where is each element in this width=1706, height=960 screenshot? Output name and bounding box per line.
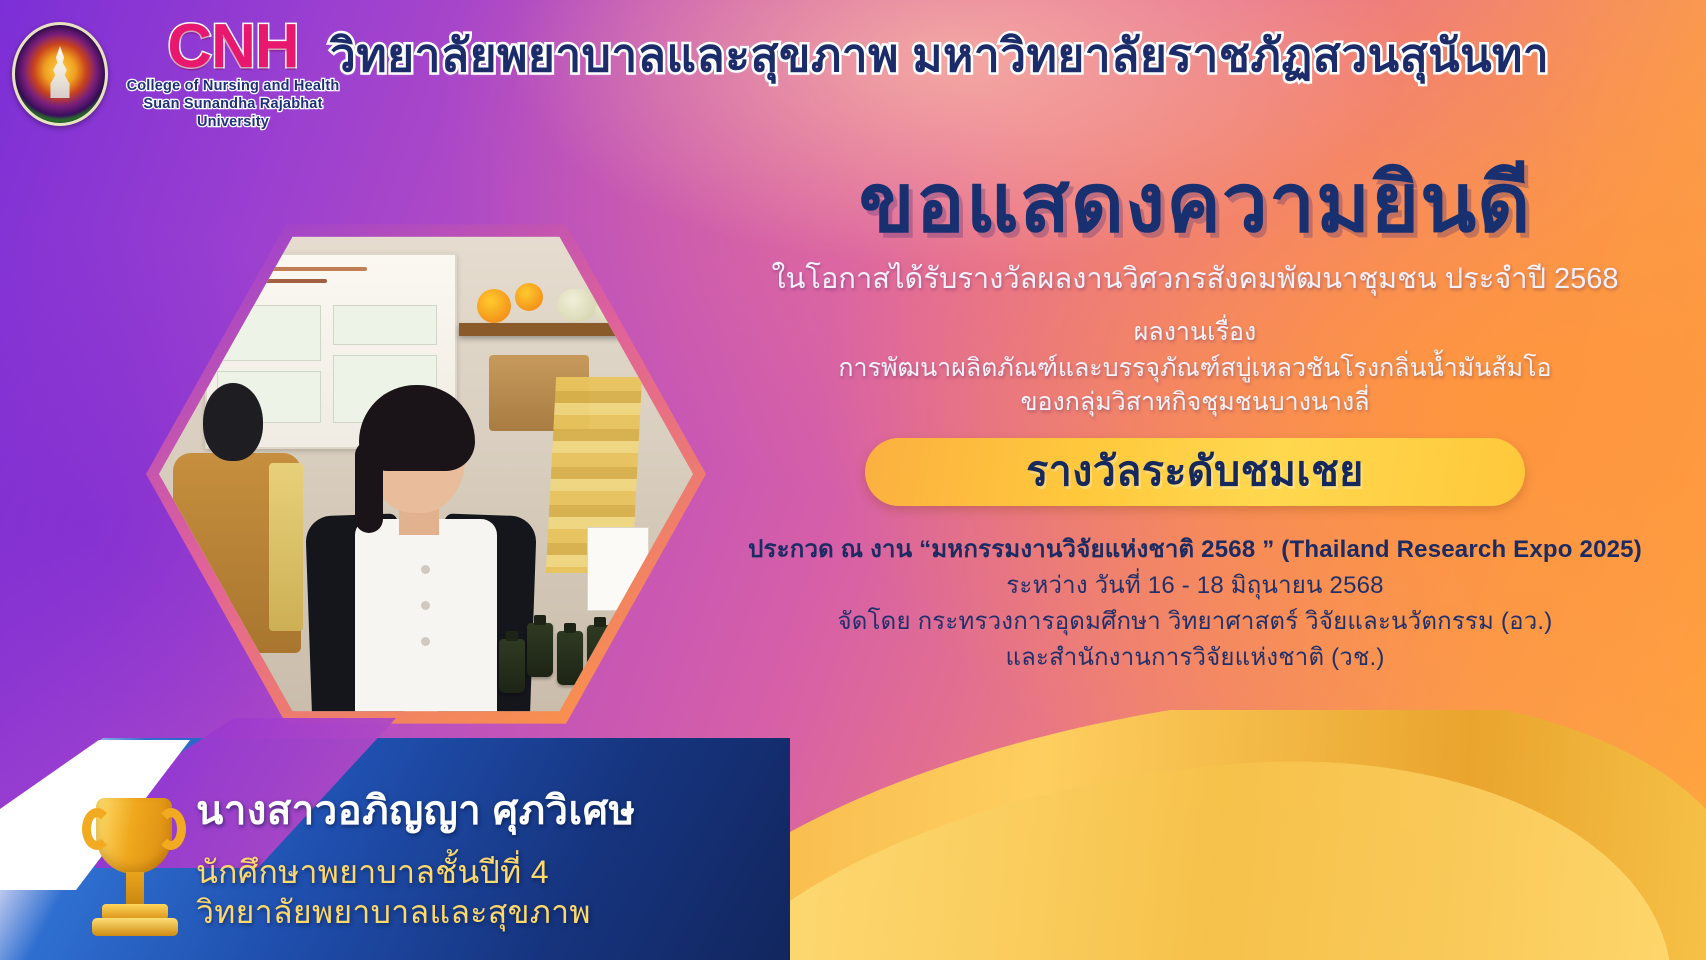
student-college: วิทยาลัยพยาบาลและสุขภาพ	[196, 892, 756, 932]
occasion-line: ในโอกาสได้รับรางวัลผลงานวิศวกรสังคมพัฒนา…	[700, 261, 1690, 299]
photo-person-hair-side	[355, 441, 383, 533]
poster-header: CNH College of Nursing and Health Suan S…	[0, 0, 1706, 148]
student-detail-block: นักศึกษาพยาบาลชั้นปีที่ 4 วิทยาลัยพยาบาล…	[196, 852, 756, 932]
trophy-handle-right	[156, 808, 186, 850]
award-level-badge: รางวัลระดับชมเชย	[865, 438, 1525, 506]
student-year: นักศึกษาพยาบาลชั้นปีที่ 4	[196, 852, 756, 892]
photo-person-shirt	[355, 519, 497, 721]
gold-wave-front	[637, 735, 1675, 960]
cnh-logo-block: CNH College of Nursing and Health Suan S…	[118, 18, 348, 131]
work-label: ผลงานเรื่อง	[700, 312, 1690, 352]
event-line-4: และสำนักงานการวิจัยแห่งชาติ (วช.)	[700, 640, 1690, 676]
photo-marigold	[515, 283, 543, 311]
event-line-1: ประกวด ณ งาน “มหกรรมงานวิจัยแห่งชาติ 256…	[700, 532, 1690, 568]
purple-wave	[679, 787, 1593, 960]
event-line-2: ระหว่าง วันที่ 16 - 18 มิถุนายน 2568	[700, 568, 1690, 604]
photo-mannequin-head	[203, 383, 263, 461]
header-title-thai: วิทยาลัยพยาบาลและสุขภาพ มหาวิทยาลัยราชภั…	[330, 30, 1670, 81]
award-text-column: ขอแสดงความยินดี ในโอกาสได้รับรางวัลผลงาน…	[700, 160, 1690, 676]
work-title-line-2: ของกลุ่มวิสาหกิจชุมชนบางนางลี่	[700, 386, 1690, 420]
cnh-university-english: Suan Sunandha Rajabhat University	[118, 95, 348, 131]
student-name-block: นางสาวอภิญญา ศุภวิเศษ	[196, 778, 756, 842]
event-details: ประกวด ณ งาน “มหกรรมงานวิจัยแห่งชาติ 256…	[700, 532, 1690, 676]
congratulations-headline: ขอแสดงความยินดี	[700, 160, 1690, 249]
photo-marigold	[477, 289, 511, 323]
photo-product-bottle	[527, 623, 553, 677]
student-exhibition-photo	[159, 227, 693, 721]
university-seal-icon	[12, 22, 108, 126]
photo-shelf	[459, 323, 627, 336]
trophy-stem	[126, 872, 144, 906]
work-title-line-1: การพัฒนาผลิตภัณฑ์และบรรจุภัณฑ์สบู่เหลวชั…	[700, 352, 1690, 386]
trophy-cup	[96, 798, 172, 874]
award-photo-hexagon	[146, 214, 706, 734]
cnh-subtitle-english: College of Nursing and Health	[118, 77, 348, 95]
trophy-base-lower	[92, 918, 178, 936]
student-name: นางสาวอภิญญา ศุภวิเศษ	[196, 778, 756, 842]
photo-mannequin-scarf	[269, 463, 303, 631]
award-level-label: รางวัลระดับชมเชย	[1026, 439, 1364, 504]
trophy-handle-left	[82, 808, 112, 850]
trophy-icon	[78, 794, 190, 942]
photo-produce	[557, 289, 597, 321]
photo-product-bottle	[499, 639, 525, 693]
cnh-acronym: CNH	[118, 18, 348, 77]
congratulations-poster: CNH College of Nursing and Health Suan S…	[0, 0, 1706, 960]
event-line-3: จัดโดย กระทรวงการอุดมศึกษา วิทยาศาสตร์ ว…	[700, 604, 1690, 640]
